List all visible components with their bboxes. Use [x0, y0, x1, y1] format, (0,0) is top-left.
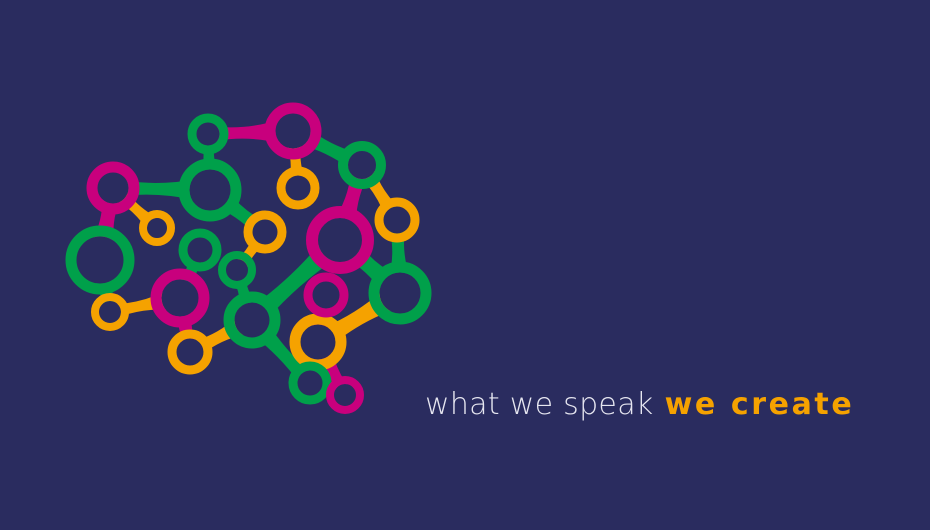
network-node-center	[147, 218, 167, 238]
tagline-bold-text: we create	[665, 390, 855, 420]
network-node-center	[197, 123, 220, 146]
network-node-center	[318, 218, 362, 262]
network-node-center	[301, 325, 336, 360]
network-node-center	[190, 170, 231, 211]
tagline: what we speak we create	[425, 390, 854, 426]
network-node-center	[384, 207, 411, 234]
network-node-center	[286, 176, 311, 201]
network-node-center	[162, 280, 199, 317]
network-node-center	[313, 282, 340, 309]
network-node-center	[226, 259, 248, 281]
network-node-center	[177, 339, 204, 366]
network-node-center	[334, 384, 356, 406]
neural-brain-network-logo	[55, 95, 445, 435]
network-node-center	[77, 237, 124, 284]
slide-canvas: what we speak we create	[0, 0, 930, 530]
network-node-center	[253, 220, 278, 245]
network-node-center	[98, 173, 129, 204]
network-node-center	[276, 114, 311, 149]
brain-svg	[55, 95, 445, 435]
network-node-center	[188, 238, 213, 263]
tagline-light-text: what we speak	[425, 390, 654, 420]
network-node-center	[298, 371, 323, 396]
network-node-center	[235, 303, 270, 338]
network-node-center	[99, 301, 121, 323]
network-node-center	[380, 273, 421, 314]
network-node-center	[348, 151, 376, 179]
